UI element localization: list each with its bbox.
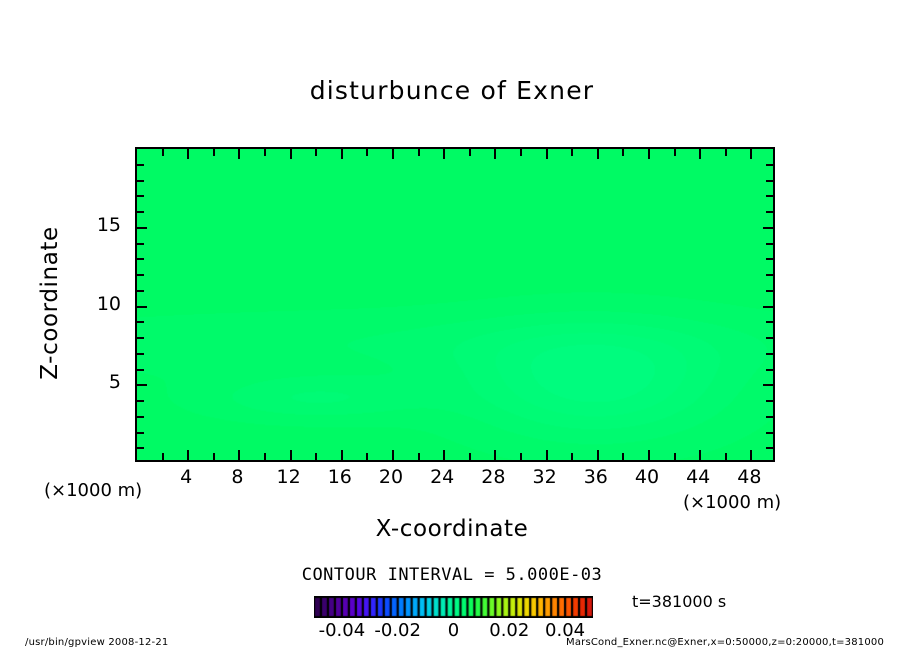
- y-tick: [137, 227, 147, 229]
- x-tick: [290, 149, 292, 159]
- x-tick: [699, 149, 701, 159]
- x-tick: [443, 450, 445, 460]
- x-tick: [238, 450, 240, 460]
- x-tick: [238, 149, 240, 159]
- x-tick: [290, 450, 292, 460]
- y-tick: [766, 258, 773, 260]
- x-tick: [315, 149, 317, 156]
- y-tick: [766, 369, 773, 371]
- y-tick: [766, 274, 773, 276]
- page-title: disturbunce of Exner: [0, 76, 904, 105]
- y-tick: [766, 447, 773, 449]
- x-tick: [750, 149, 752, 159]
- x-tick: [418, 149, 420, 156]
- x-tick: [213, 453, 215, 460]
- x-tick: [187, 450, 189, 460]
- x-tick: [366, 149, 368, 156]
- y-tick: [137, 369, 144, 371]
- x-tick: [418, 453, 420, 460]
- x-tick: [469, 453, 471, 460]
- colorbar-tick-label: -0.02: [368, 620, 428, 641]
- y-tick: [137, 400, 144, 402]
- y-tick: [137, 195, 144, 197]
- x-axis-unit-right: (×1000 m): [683, 492, 781, 513]
- x-tick: [366, 453, 368, 460]
- time-annotation: t=381000 s: [632, 592, 726, 611]
- x-tick: [648, 450, 650, 460]
- colorbar-tick-labels: -0.04-0.0200.020.04: [300, 620, 610, 644]
- x-tick: [341, 149, 343, 159]
- y-tick-label: 10: [61, 293, 121, 315]
- x-tick: [571, 149, 573, 156]
- colorbar-canvas: [314, 596, 593, 618]
- y-tick: [137, 164, 144, 166]
- colorbar-tick-label: 0.02: [479, 620, 539, 641]
- y-tick: [137, 274, 144, 276]
- x-tick: [187, 149, 189, 159]
- x-tick-label: 48: [719, 466, 779, 488]
- y-tick-label: 15: [61, 214, 121, 236]
- x-tick: [469, 149, 471, 156]
- y-tick: [137, 384, 147, 386]
- y-tick: [766, 164, 773, 166]
- x-tick: [494, 450, 496, 460]
- x-tick: [520, 149, 522, 156]
- y-tick: [137, 258, 144, 260]
- x-tick: [264, 453, 266, 460]
- footer-dataset-info: MarsCond_Exner.nc@Exner,x=0:50000,z=0:20…: [566, 637, 884, 648]
- colorbar-tick-label: -0.04: [312, 620, 372, 641]
- x-tick: [315, 453, 317, 460]
- y-tick: [137, 416, 144, 418]
- x-tick: [571, 453, 573, 460]
- y-tick: [766, 432, 773, 434]
- y-tick: [137, 290, 144, 292]
- y-tick: [766, 321, 773, 323]
- y-tick: [766, 416, 773, 418]
- x-tick: [264, 149, 266, 156]
- y-tick: [137, 447, 144, 449]
- y-tick: [766, 243, 773, 245]
- y-tick: [763, 306, 773, 308]
- x-tick: [699, 450, 701, 460]
- y-tick: [137, 353, 144, 355]
- x-tick: [162, 453, 164, 460]
- plot-area: [135, 147, 775, 462]
- y-tick: [763, 384, 773, 386]
- x-tick: [392, 450, 394, 460]
- y-tick: [137, 432, 144, 434]
- y-tick: [763, 227, 773, 229]
- x-tick: [443, 149, 445, 159]
- colorbar: [314, 596, 593, 618]
- x-tick: [597, 149, 599, 159]
- colorbar-tick-label: 0: [424, 620, 484, 641]
- contour-field-canvas: [137, 149, 773, 460]
- y-tick: [137, 321, 144, 323]
- x-tick: [674, 149, 676, 156]
- contour-interval-label: CONTOUR INTERVAL = 5.000E-03: [0, 565, 904, 585]
- y-tick: [766, 195, 773, 197]
- y-tick: [766, 337, 773, 339]
- y-tick: [137, 211, 144, 213]
- y-tick: [137, 243, 144, 245]
- footer-command-info: /usr/bin/gpview 2008-12-21: [25, 637, 168, 648]
- x-tick: [648, 149, 650, 159]
- y-tick-label: 5: [61, 371, 121, 393]
- x-tick: [674, 453, 676, 460]
- x-tick: [750, 450, 752, 460]
- x-tick: [725, 149, 727, 156]
- x-tick: [213, 149, 215, 156]
- x-tick: [725, 453, 727, 460]
- x-tick: [546, 450, 548, 460]
- x-tick: [597, 450, 599, 460]
- x-tick: [622, 453, 624, 460]
- y-tick: [766, 353, 773, 355]
- x-tick: [622, 149, 624, 156]
- y-tick: [766, 211, 773, 213]
- y-tick: [766, 180, 773, 182]
- x-axis-title: X-coordinate: [0, 516, 904, 542]
- x-tick: [392, 149, 394, 159]
- x-axis-unit-left: (×1000 m): [44, 480, 142, 501]
- x-tick: [520, 453, 522, 460]
- y-axis-title: Z-coordinate: [37, 193, 63, 413]
- y-tick: [137, 180, 144, 182]
- x-tick: [494, 149, 496, 159]
- y-tick: [766, 290, 773, 292]
- y-tick: [137, 306, 147, 308]
- y-tick: [766, 400, 773, 402]
- x-tick: [341, 450, 343, 460]
- x-tick: [162, 149, 164, 156]
- y-tick: [137, 337, 144, 339]
- x-tick: [546, 149, 548, 159]
